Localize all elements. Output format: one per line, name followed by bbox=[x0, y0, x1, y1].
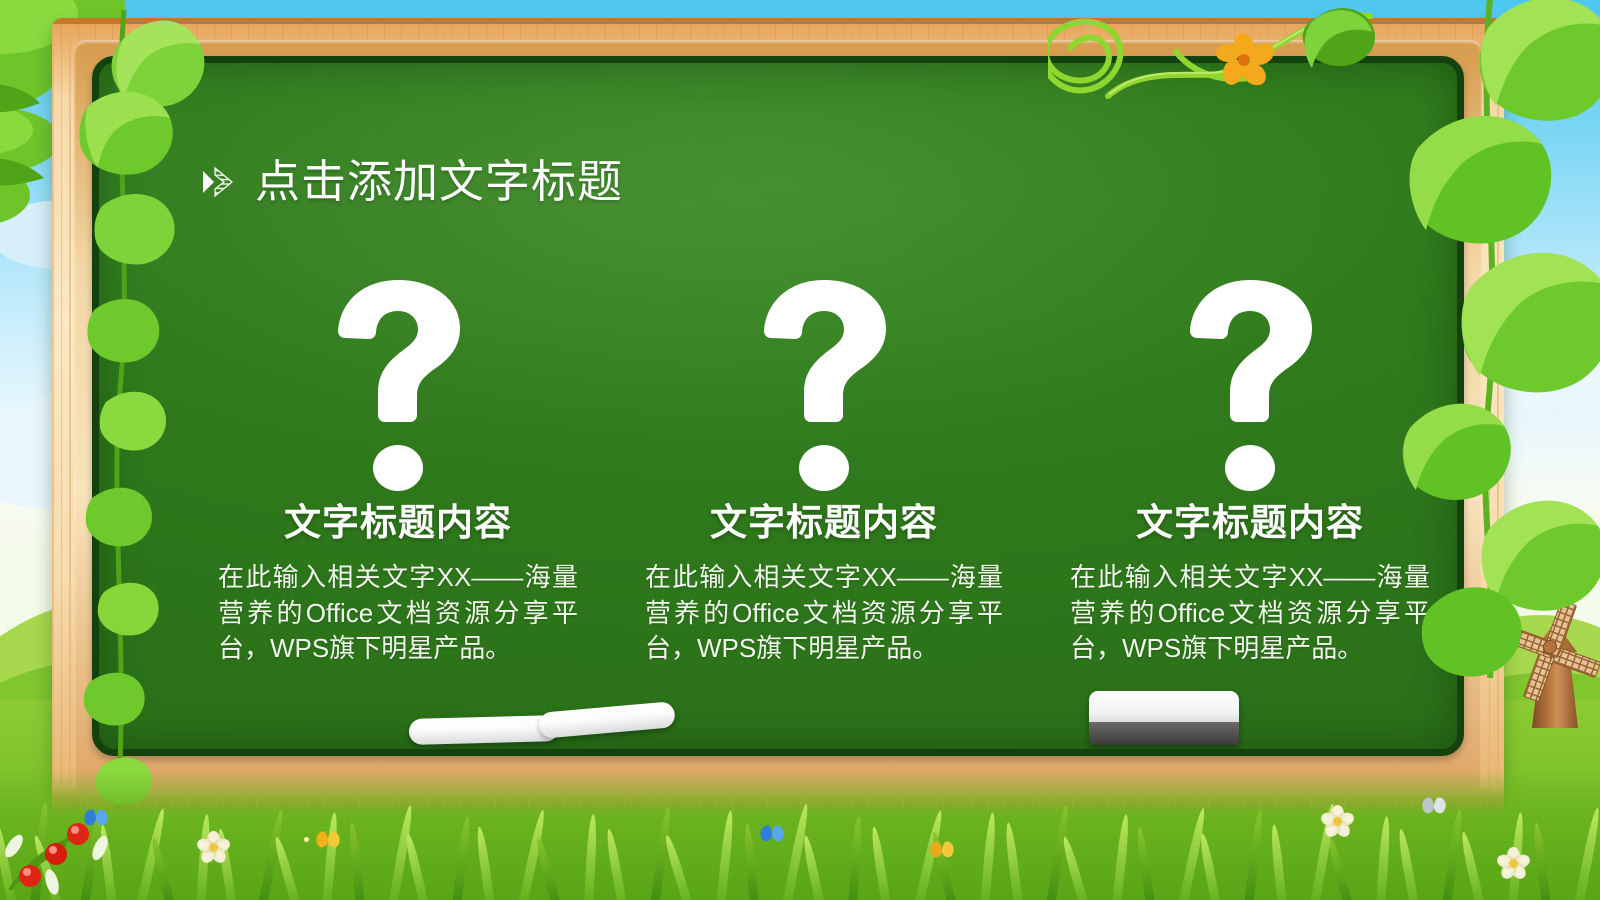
butterfly-icon bbox=[1422, 798, 1448, 814]
white-flower-icon bbox=[196, 830, 230, 864]
butterfly-icon bbox=[930, 842, 956, 858]
question-mark-icon bbox=[1184, 278, 1316, 493]
tendril-icon bbox=[1048, 0, 1378, 130]
content-column: 文字标题内容 在此输入相关文字XX——海量营养的Office文档资源分享平台，W… bbox=[209, 278, 587, 748]
question-mark-icon bbox=[758, 278, 890, 493]
grass-blades bbox=[0, 780, 1600, 900]
column-heading: 文字标题内容 bbox=[1136, 503, 1364, 544]
slide-canvas: 点击添加文字标题 文字标题内容 在此输入相关文字XX——海量营养的Office文… bbox=[0, 0, 1600, 900]
content-column: 文字标题内容 在此输入相关文字XX——海量营养的Office文档资源分享平台，W… bbox=[635, 278, 1013, 748]
ivy-vine-icon bbox=[28, 10, 218, 850]
white-flower-icon bbox=[1320, 804, 1354, 838]
white-flower-icon bbox=[1496, 846, 1530, 880]
page-title: 点击添加文字标题 bbox=[255, 159, 623, 204]
title-row: 点击添加文字标题 bbox=[199, 159, 623, 204]
butterfly-icon bbox=[84, 810, 110, 826]
column-body-text: 在此输入相关文字XX——海量营养的Office文档资源分享平台，WPS旗下明星产… bbox=[218, 560, 578, 668]
chalkboard: 点击添加文字标题 文字标题内容 在此输入相关文字XX——海量营养的Office文… bbox=[52, 18, 1504, 818]
chalk-stick-icon[interactable] bbox=[409, 715, 560, 745]
butterfly-icon bbox=[760, 826, 786, 842]
column-heading: 文字标题内容 bbox=[710, 503, 938, 544]
board-surface[interactable]: 点击添加文字标题 文字标题内容 在此输入相关文字XX——海量营养的Office文… bbox=[92, 56, 1464, 756]
question-mark-icon bbox=[332, 278, 464, 493]
ivy-vine-icon bbox=[1370, 0, 1600, 688]
yellow-flower-icon bbox=[1216, 31, 1279, 90]
butterfly-icon bbox=[316, 832, 342, 848]
content-columns: 文字标题内容 在此输入相关文字XX——海量营养的Office文档资源分享平台，W… bbox=[209, 278, 1439, 748]
dot-flower-icon bbox=[300, 833, 313, 846]
blackboard-eraser-icon[interactable] bbox=[1089, 691, 1239, 745]
column-heading: 文字标题内容 bbox=[284, 503, 512, 544]
column-body-text: 在此输入相关文字XX——海量营养的Office文档资源分享平台，WPS旗下明星产… bbox=[645, 560, 1003, 668]
